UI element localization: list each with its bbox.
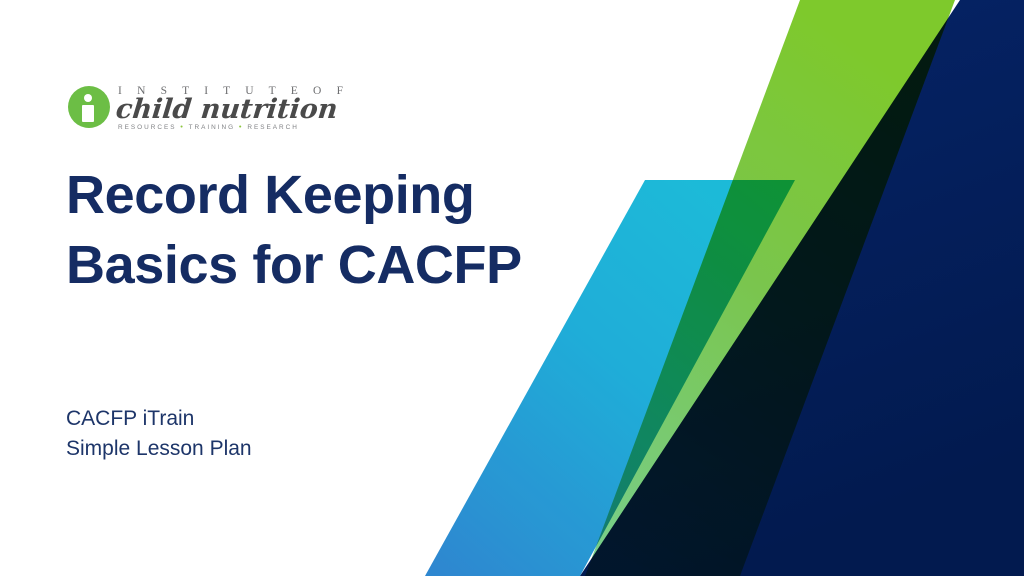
- slide-title: Record Keeping Basics for CACFP: [66, 160, 626, 300]
- slide-subtitle-line-2: Simple Lesson Plan: [66, 434, 486, 464]
- institute-of-child-nutrition-logo: I N S T I T U T E O F child nutrition RE…: [68, 78, 300, 134]
- logo-tagline-resources: RESOURCES: [118, 124, 176, 131]
- navy-wedge: [580, 0, 1024, 576]
- logo-i-stem: [82, 105, 94, 122]
- logo-wordmark-text: child nutrition: [114, 95, 339, 125]
- slide-subtitle-line-1: CACFP iTrain: [66, 404, 486, 434]
- logo-i-dot: [84, 94, 92, 102]
- icn-circle-i-icon: [68, 86, 110, 128]
- slide-title-line-1: Record Keeping: [66, 160, 626, 230]
- slide-canvas: I N S T I T U T E O F child nutrition RE…: [0, 0, 1024, 576]
- slide-title-line-2: Basics for CACFP: [66, 230, 626, 300]
- logo-tagline-separator-2: •: [239, 122, 244, 131]
- green-band: [585, 0, 955, 576]
- slide-subtitle: CACFP iTrain Simple Lesson Plan: [66, 404, 486, 464]
- logo-tagline-training: TRAINING: [189, 124, 236, 131]
- logo-tagline-research: RESEARCH: [247, 124, 299, 131]
- logo-tagline: RESOURCES • TRAINING • RESEARCH: [118, 122, 299, 131]
- logo-tagline-separator-1: •: [180, 122, 185, 131]
